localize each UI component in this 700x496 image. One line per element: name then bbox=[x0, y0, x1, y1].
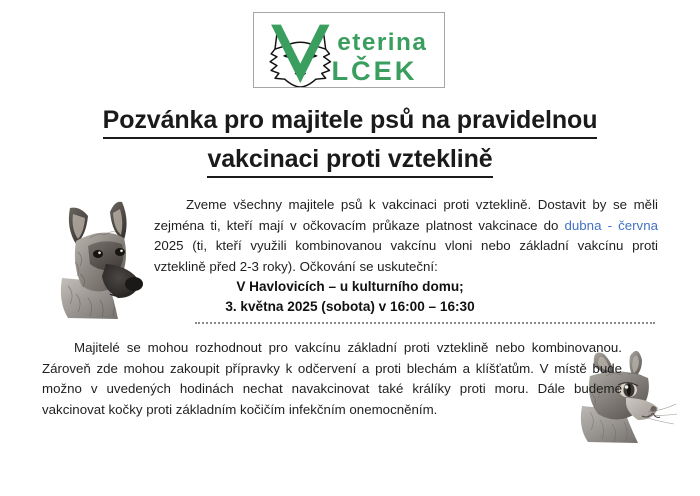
event-place: V Havlovicích – u kulturního domu; bbox=[236, 279, 463, 294]
event-details: V Havlovicích – u kulturního domu; 3. kv… bbox=[60, 277, 640, 316]
event-datetime: 3. května 2025 (sobota) v 16:00 – 16:30 bbox=[225, 299, 474, 314]
logo-word-eterina: eterina bbox=[337, 29, 427, 56]
para-1-highlight: dubna - června bbox=[565, 218, 659, 233]
logo-green-v bbox=[271, 25, 329, 83]
paragraph-2: Majitelé se mohou rozhodnout pro vakcínu… bbox=[42, 338, 622, 420]
page-title-line-1: Pozvánka pro majitele psů na pravidelnou bbox=[103, 104, 598, 139]
page-title: Pozvánka pro majitele psů na pravidelnou… bbox=[60, 104, 640, 178]
paragraph-1: Zveme všechny majitele psů k vakcinaci p… bbox=[42, 195, 658, 277]
para-1-part-2: 2025 (ti, kteří využili kombinovanou vak… bbox=[154, 238, 658, 274]
dotted-divider bbox=[195, 322, 655, 324]
veterina-vlcek-logo: eterina LČEK bbox=[254, 13, 444, 87]
para-2-text: Majitelé se mohou rozhodnout pro vakcínu… bbox=[42, 340, 622, 417]
page-title-line-2: vakcinaci proti vzteklině bbox=[207, 143, 492, 178]
logo-block: eterina LČEK bbox=[253, 12, 445, 88]
dog-text-wrap-spacer bbox=[42, 195, 154, 259]
logo-word-lcek: LČEK bbox=[331, 54, 417, 86]
